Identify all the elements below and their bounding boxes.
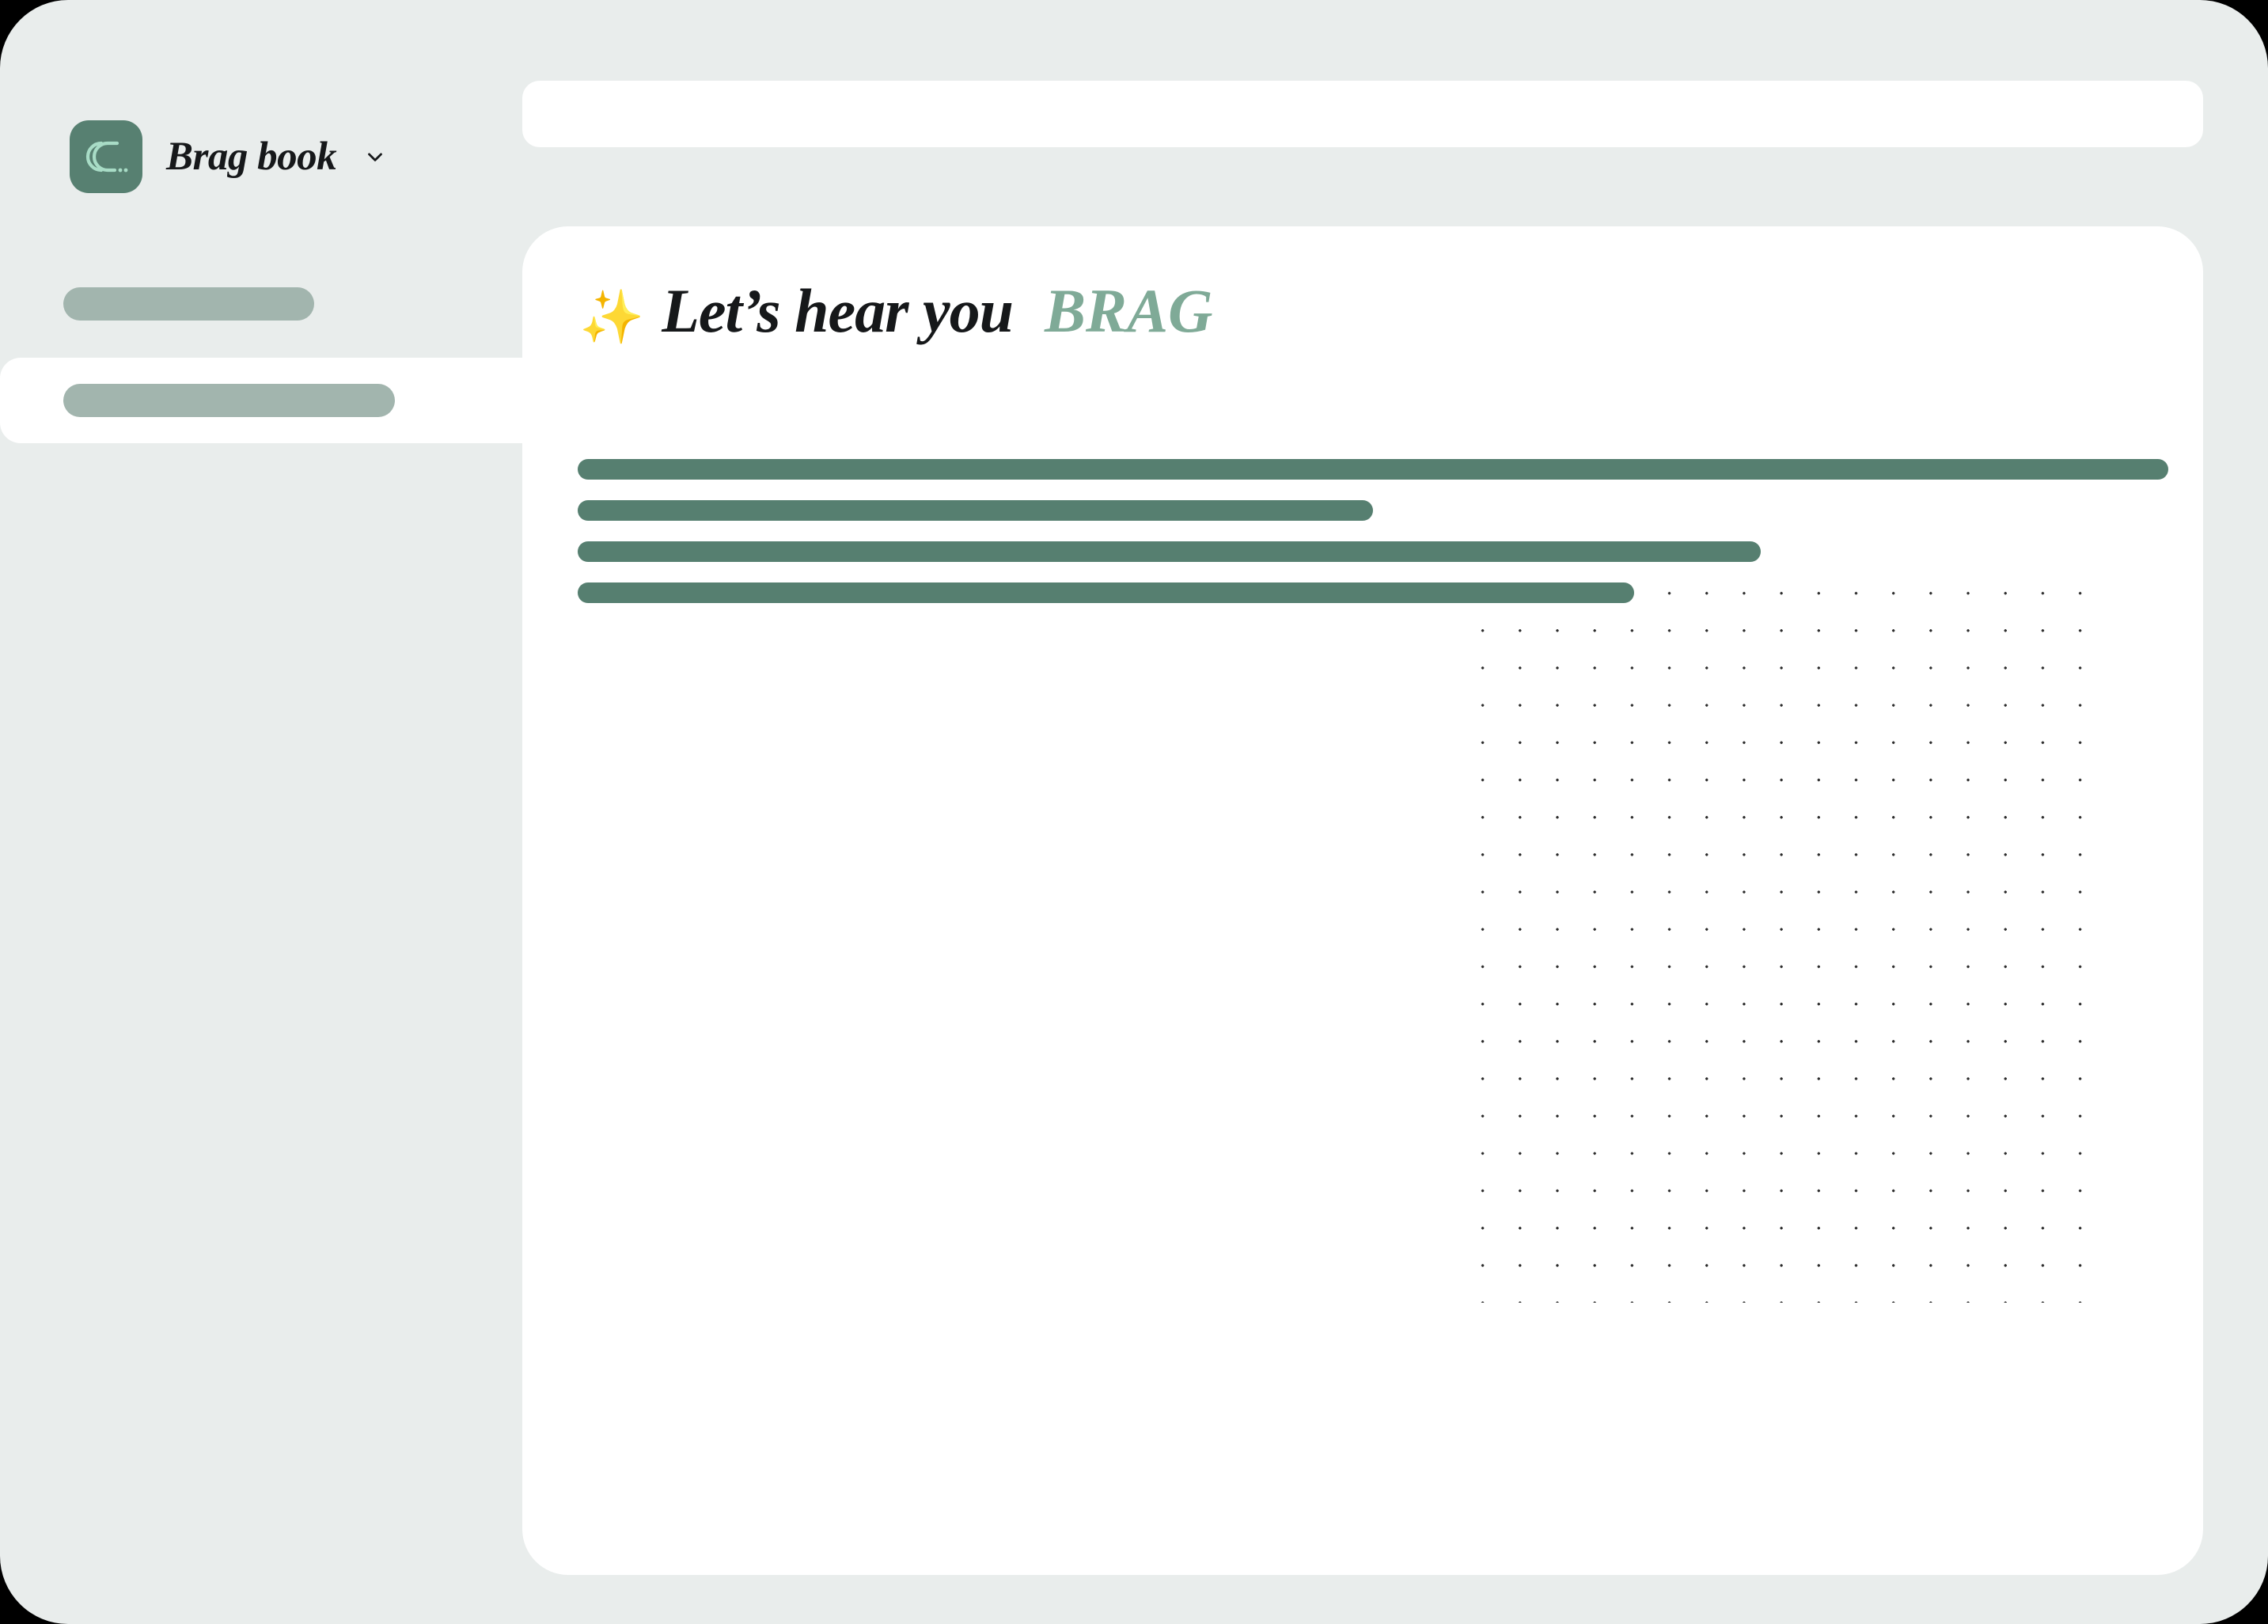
sidebar-item-1[interactable] bbox=[0, 261, 522, 347]
content-bar bbox=[578, 500, 1373, 521]
sparkles-icon: ✨ bbox=[579, 291, 644, 343]
content-placeholder-bars bbox=[578, 459, 2160, 624]
topbar[interactable] bbox=[522, 81, 2203, 147]
sidebar-nav bbox=[0, 261, 522, 540]
sidebar-item-2[interactable] bbox=[0, 358, 554, 443]
sidebar: Brag book bbox=[0, 0, 522, 1624]
content-bar bbox=[578, 541, 1761, 562]
nav-spacer bbox=[0, 347, 522, 358]
nav-spacer bbox=[0, 443, 522, 454]
dot-grid-decoration bbox=[1464, 575, 2097, 1303]
sidebar-item-3[interactable] bbox=[0, 454, 522, 540]
app-frame: Brag book ✨ Let’ bbox=[0, 0, 2268, 1624]
chevron-down-icon[interactable] bbox=[363, 145, 387, 169]
content-bar bbox=[578, 582, 1634, 603]
double-c-logo-icon bbox=[70, 120, 142, 193]
brand-title: Brag book bbox=[166, 134, 336, 180]
brand[interactable]: Brag book bbox=[70, 120, 387, 193]
main-panel: ✨ Let’s hear you BRAG bbox=[522, 226, 2203, 1575]
page-title: ✨ Let’s hear you BRAG bbox=[579, 275, 1212, 347]
sidebar-item-label-placeholder bbox=[63, 287, 314, 321]
page-title-accent: BRAG bbox=[1045, 275, 1212, 347]
page-title-text: Let’s hear you bbox=[662, 275, 1013, 347]
sidebar-item-label-placeholder bbox=[63, 384, 395, 417]
content-bar bbox=[578, 459, 2168, 480]
